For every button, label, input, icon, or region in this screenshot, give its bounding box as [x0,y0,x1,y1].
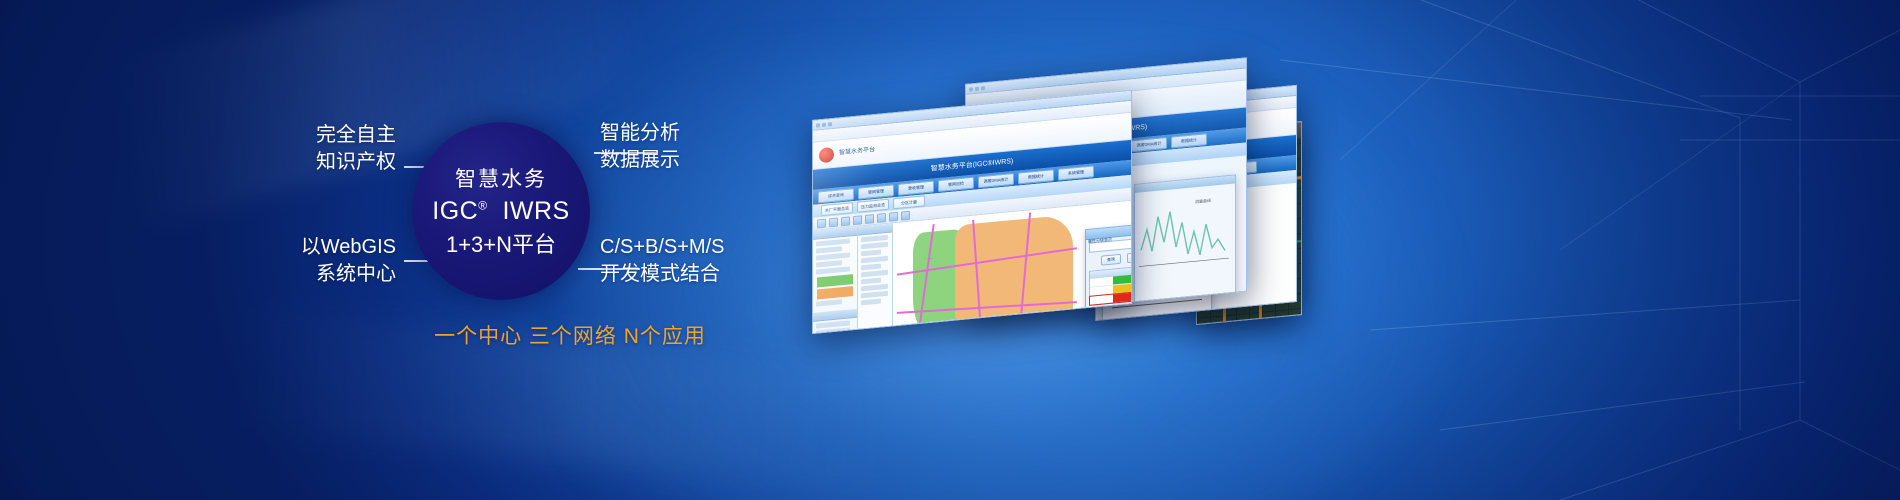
feature-bottom-left-line1: 以WebGIS [200,234,396,261]
banner-stage: 智慧水务平台 智慧水务平台(IGC®IWRS) 综合查询 管网管理 营收管理 管… [0,0,1900,500]
hub-line3: 1+3+N平台 [446,227,556,259]
feature-top-right-line2: 数据展示 [600,147,820,174]
hub-product-code: IGC [432,197,478,225]
feature-bottom-right-line1: C/S+B/S+M/S [600,234,840,261]
feature-top-left-line2: 知识产权 [200,149,396,176]
feature-top-left-line1: 完全自主 [200,122,396,149]
feature-bottom-right: C/S+B/S+M/S 开发模式结合 [600,234,840,288]
feature-bottom-left-line2: 系统中心 [200,261,396,288]
hub-circle: 智慧水务 IGC® IWRS 1+3+N平台 [412,122,590,300]
hub-product-suffix: IWRS [502,197,569,225]
banner-tagline: 一个中心 三个网络 N个应用 [360,320,780,350]
feature-bottom-right-line2: 开发模式结合 [600,261,840,288]
registered-mark-icon: ® [478,199,487,213]
feature-top-right: 智能分析 数据展示 [600,120,820,174]
feature-top-right-line1: 智能分析 [600,120,820,147]
feature-bottom-left: 以WebGIS 系统中心 [200,234,396,288]
hub-line2: IGC® IWRS [432,198,569,225]
hub-line1: 智慧水务 [455,163,547,193]
feature-top-left: 完全自主 知识产权 [200,122,396,176]
